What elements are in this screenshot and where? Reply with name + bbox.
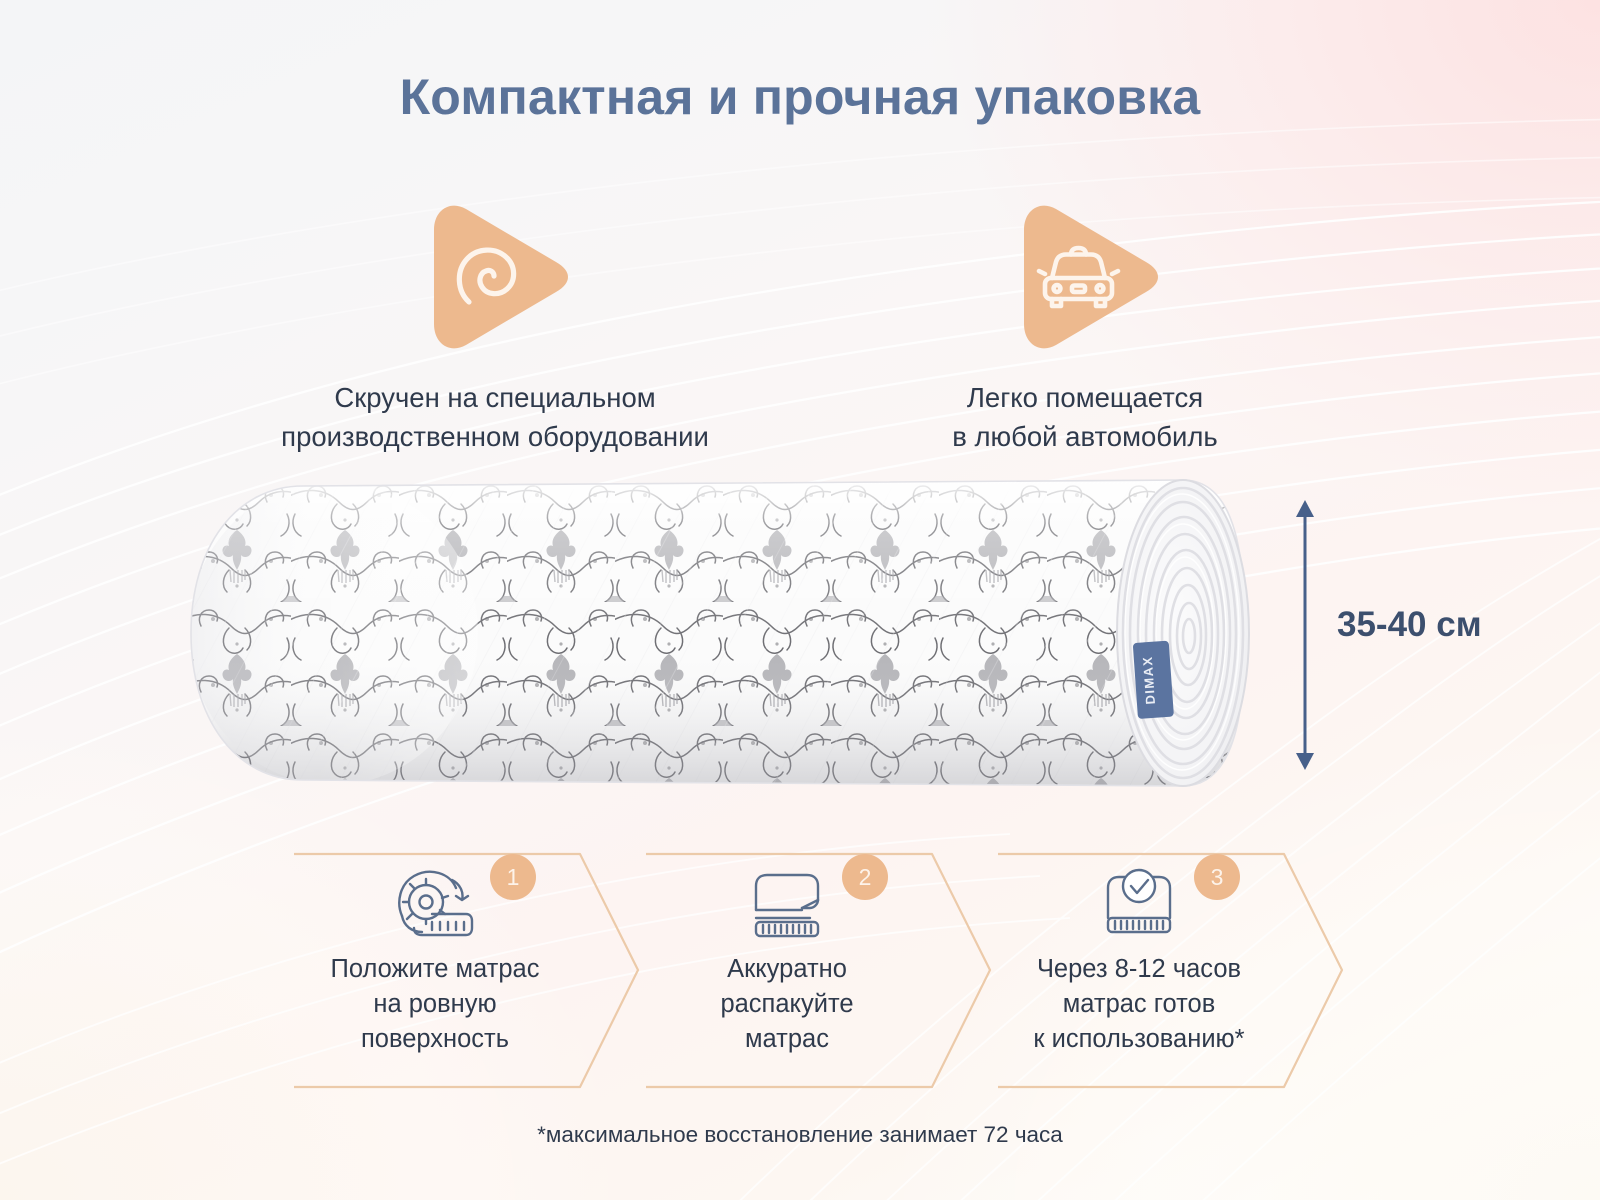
step-number-badge: 3 [1194,854,1240,900]
step-text: Через 8-12 часов матрас готов к использо… [994,952,1284,1057]
mattress-check-icon [994,866,1284,949]
rolled-mattress-image: DIMAX [183,478,1273,788]
feature-block-fits-any-car: Легко помещается в любой автомобиль [790,196,1380,456]
step-number-badge: 2 [842,854,888,900]
steps-row: Положите матрас на ровную поверхность 1 [290,848,1320,1093]
measuring-tape-roll-icon [290,866,580,949]
spiral-roll-icon [410,196,580,356]
step-card-3[interactable]: Через 8-12 часов матрас готов к использо… [994,848,1346,1093]
step-card-2[interactable]: Аккуратно распакуйте матрас 2 [642,848,994,1093]
feature-block-rolled-on-equipment: Скручен на специальном производственном … [195,196,795,456]
dimension-indicator: 35-40 см [1285,495,1585,775]
infographic-canvas: Компактная и прочная упаковка Скручен на… [0,0,1600,1200]
mattress-unpack-icon [642,866,932,949]
car-icon [1000,196,1170,356]
step-text: Положите матрас на ровную поверхность [290,952,580,1057]
page-title: Компактная и прочная упаковка [0,68,1600,126]
feature-caption: Легко помещается в любой автомобиль [790,378,1380,456]
step-card-1[interactable]: Положите матрас на ровную поверхность 1 [290,848,642,1093]
step-text: Аккуратно распакуйте матрас [642,952,932,1057]
step-number-badge: 1 [490,854,536,900]
footnote: *максимальное восстановление занимает 72… [0,1122,1600,1148]
brand-tag: DIMAX [1133,641,1174,719]
dimension-label: 35-40 см [1337,605,1482,645]
feature-caption: Скручен на специальном производственном … [195,378,795,456]
